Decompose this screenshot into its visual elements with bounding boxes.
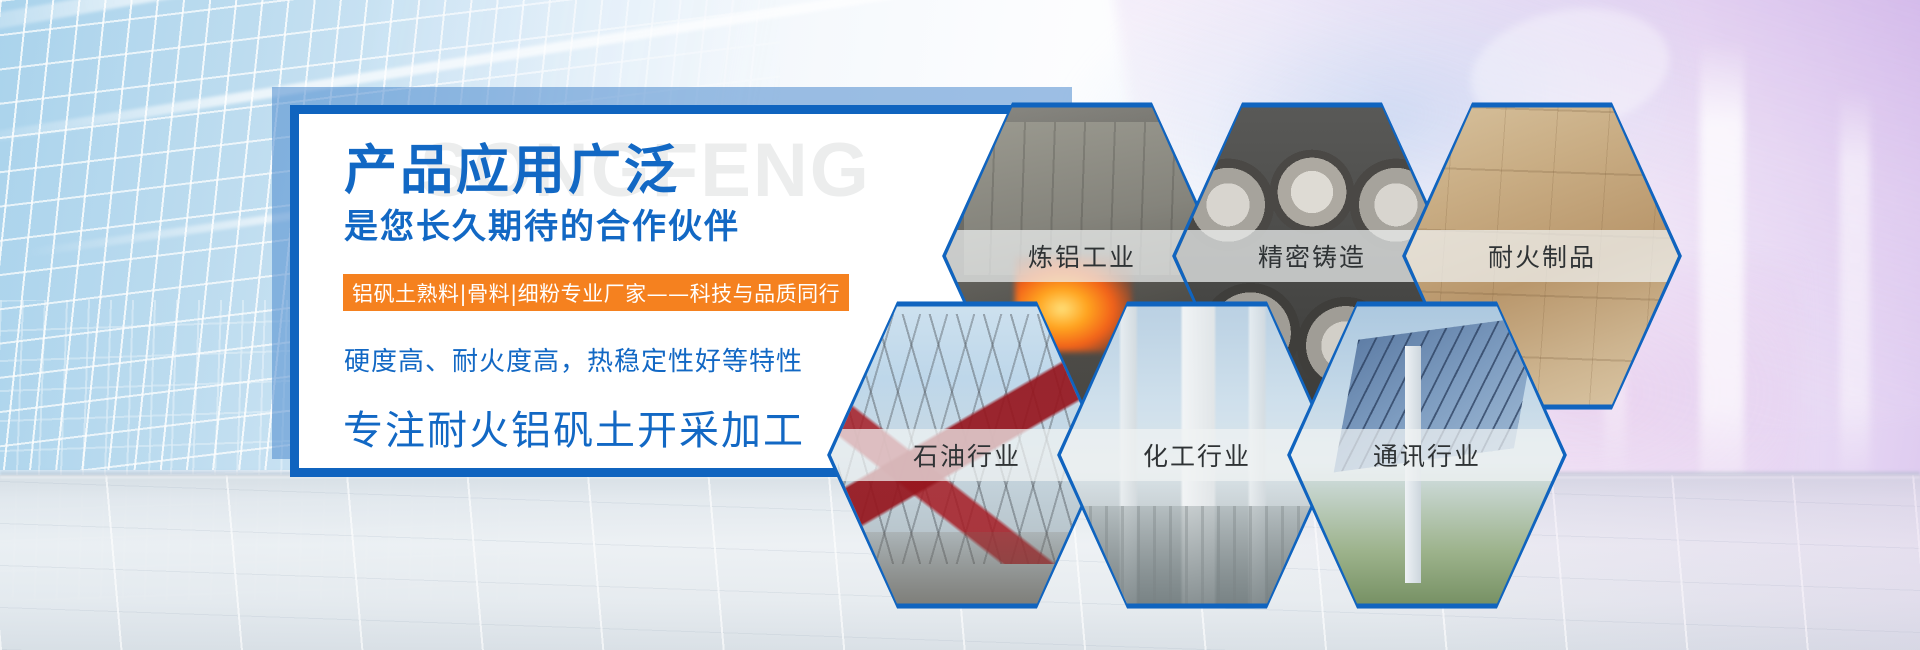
industry-label: 通讯行业 [1373, 437, 1481, 473]
page-title: 产品应用广泛 [344, 144, 680, 197]
column-highlight [1700, 40, 1744, 510]
tagline-badge: 铝矾土熟料|骨料|细粉专业厂家——科技与品质同行 [343, 274, 849, 311]
promo-banner: SONGFENG 产品应用广泛 是您长久期待的合作伙伴 铝矾土熟料|骨料|细粉专… [0, 0, 1920, 650]
column-highlight [1840, 90, 1870, 490]
hex-label-band: 通讯行业 [1287, 429, 1567, 481]
industry-label: 耐火制品 [1488, 238, 1596, 274]
feature-text: 硬度高、耐火度高，热稳定性好等特性 [344, 341, 803, 378]
focus-statement: 专注耐火铝矾土开采加工 [343, 398, 805, 456]
industry-label: 炼铝工业 [1028, 238, 1136, 274]
page-subtitle: 是您长久期待的合作伙伴 [344, 210, 740, 244]
industry-label: 石油行业 [913, 437, 1021, 473]
hex-label-band: 耐火制品 [1402, 230, 1682, 282]
tagline-text: 铝矾土熟料|骨料|细粉专业厂家——科技与品质同行 [352, 278, 840, 308]
industry-label: 精密铸造 [1258, 238, 1366, 274]
industry-label: 化工行业 [1143, 437, 1251, 473]
